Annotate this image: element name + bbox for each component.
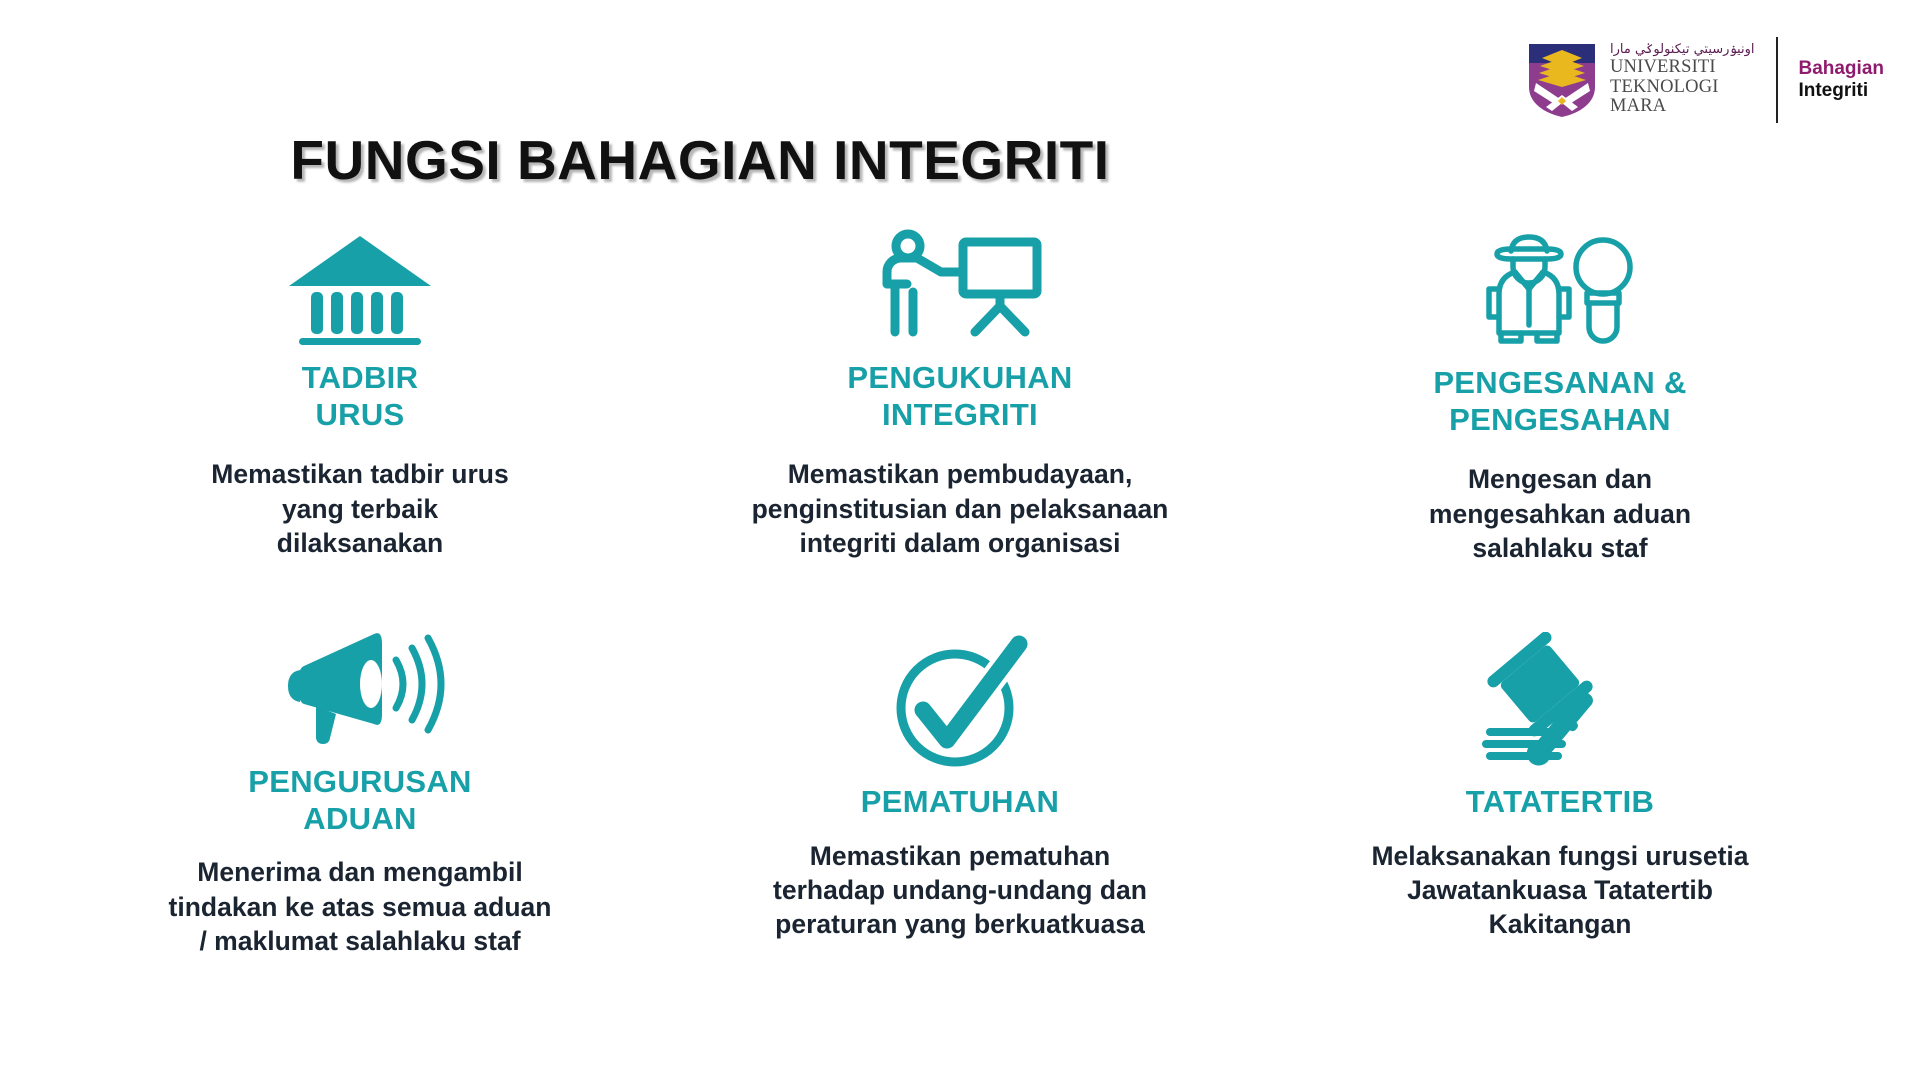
bank-institution-icon xyxy=(285,228,435,348)
header-logo-bar: اونيۏرسيتي تيکنولوݢي مارا UNIVERSITI TEK… xyxy=(1526,36,1884,124)
uitm-name-lines: UNIVERSITI TEKNOLOGI MARA xyxy=(1610,58,1754,118)
function-title: TATATERTIB xyxy=(1466,784,1654,821)
function-card-tatatertib: TATATERTIB Melaksanakan fungsi urusetia … xyxy=(1260,622,1860,952)
function-description: Memastikan pematuhan terhadap undang-und… xyxy=(773,839,1147,942)
megaphone-icon xyxy=(270,622,450,752)
function-title: PENGESANAN & PENGESAHAN xyxy=(1433,365,1686,438)
logo-divider xyxy=(1776,37,1778,123)
presenter-whiteboard-icon xyxy=(875,228,1045,348)
division-name-line2: Integriti xyxy=(1798,80,1884,102)
function-card-tadbir-urus: TADBIR URUS Memastikan tadbir urus yang … xyxy=(60,228,660,558)
division-name-line1: Bahagian xyxy=(1798,58,1884,80)
function-card-pengukuhan-integriti: PENGUKUHAN INTEGRITI Memastikan pembuday… xyxy=(660,228,1260,558)
function-title: PENGUKUHAN INTEGRITI xyxy=(847,360,1072,433)
uitm-arabic-script: اونيۏرسيتي تيکنولوݢي مارا xyxy=(1610,43,1754,56)
page-title: FUNGSI BAHAGIAN INTEGRITI xyxy=(0,128,1400,192)
uitm-name-line3: MARA xyxy=(1610,97,1754,117)
function-title: PEMATUHAN xyxy=(861,784,1059,821)
function-title: PENGURUSAN ADUAN xyxy=(248,764,471,837)
function-description: Memastikan pembudayaan, penginstitusian … xyxy=(752,457,1169,560)
function-card-pematuhan: PEMATUHAN Memastikan pematuhan terhadap … xyxy=(660,622,1260,952)
uitm-name-line1: UNIVERSITI xyxy=(1610,58,1754,78)
uitm-name-line2: TEKNOLOGI xyxy=(1610,78,1754,98)
uitm-crest-icon xyxy=(1526,41,1598,119)
function-description: Mengesan dan mengesahkan aduan salahlaku… xyxy=(1429,462,1691,565)
detective-magnifier-icon xyxy=(1475,228,1645,353)
check-circle-icon xyxy=(885,622,1035,772)
uitm-wordmark: اونيۏرسيتي تيکنولوݢي مارا UNIVERSITI TEK… xyxy=(1610,43,1754,118)
function-title: TADBIR URUS xyxy=(302,360,419,433)
division-name: Bahagian Integriti xyxy=(1798,58,1884,103)
function-card-pengurusan-aduan: PENGURUSAN ADUAN Menerima dan mengambil … xyxy=(60,622,660,952)
functions-grid: TADBIR URUS Memastikan tadbir urus yang … xyxy=(60,228,1860,952)
uitm-logo: اونيۏرسيتي تيکنولوݢي مارا UNIVERSITI TEK… xyxy=(1526,41,1776,119)
function-description: Menerima dan mengambil tindakan ke atas … xyxy=(169,855,552,958)
function-card-pengesanan-pengesahan: PENGESANAN & PENGESAHAN Mengesan dan men… xyxy=(1260,228,1860,558)
function-description: Memastikan tadbir urus yang terbaik dila… xyxy=(211,457,508,560)
gavel-icon xyxy=(1470,622,1650,772)
function-description: Melaksanakan fungsi urusetia Jawatankuas… xyxy=(1371,839,1748,942)
